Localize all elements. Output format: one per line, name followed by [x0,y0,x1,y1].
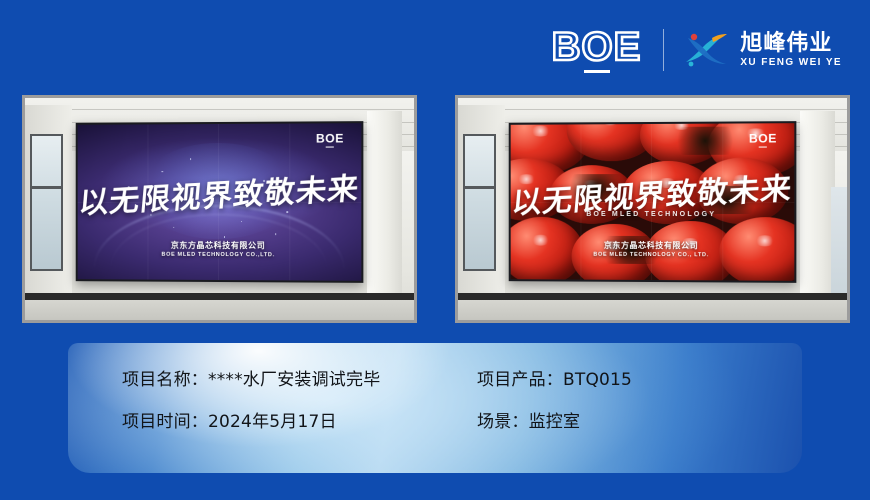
baseboard [25,293,414,300]
floor [458,300,847,320]
partner-logo: 旭峰伟业 XU FENG WEI YE [682,28,842,72]
led-screen-content: BOE 以无限视界致敬未来 京东方晶芯科技有限公司 BOE MLED TECHN… [78,124,362,281]
screen-boe-logo: BOE [749,133,777,148]
partner-name-cn: 旭峰伟业 [740,32,842,56]
boe-logo-underline [584,70,610,73]
info-panel: 项目名称：****水厂安装调试完毕 项目产品：BTQ015 项目时间：2024年… [68,343,802,473]
screen-footer: 京东方晶芯科技有限公司 BOE MLED TECHNOLOGY CO.,LTD. [78,240,362,259]
window [30,134,63,272]
photo-led-display-purple[interactable]: BOE 以无限视界致敬未来 京东方晶芯科技有限公司 BOE MLED TECHN… [22,95,417,323]
screen-boe-text: BOE [749,133,777,145]
info-label-scene: 场景： [477,412,529,432]
screen-footer-cn: 京东方晶芯科技有限公司 [511,240,795,252]
baseboard [458,293,847,300]
led-screen: BOE 以无限视界致敬未来 BOE MLED TECHNOLOGY 京东方晶芯科… [509,122,796,284]
boe-logo-text: BOE [552,27,642,67]
floor [25,300,414,320]
info-value-project-product: BTQ015 [563,370,632,390]
info-row-project-product: 项目产品：BTQ015 [477,365,632,390]
header-logo-bar: BOE 旭峰伟业 XU FENG WEI YE [552,22,842,78]
info-label-project-name: 项目名称： [122,370,208,390]
room-scene: BOE 以无限视界致敬未来 BOE MLED TECHNOLOGY 京东方晶芯科… [458,98,847,320]
right-pillar [800,111,835,311]
info-row-project-name: 项目名称：****水厂安装调试完毕 [122,365,477,390]
info-value-project-date: 2024年5月17日 [208,412,337,432]
partner-logo-text: 旭峰伟业 XU FENG WEI YE [740,32,842,69]
led-screen-content: BOE 以无限视界致敬未来 BOE MLED TECHNOLOGY 京东方晶芯科… [511,124,795,281]
screen-footer: 京东方晶芯科技有限公司 BOE MLED TECHNOLOGY CO., LTD… [511,240,795,259]
screen-boe-text: BOE [316,133,344,145]
xufeng-bird-icon [682,28,730,72]
info-grid: 项目名称：****水厂安装调试完毕 项目产品：BTQ015 项目时间：2024年… [122,365,632,432]
logo-divider [663,29,664,71]
slide-root: BOE 旭峰伟业 XU FENG WEI YE [0,0,870,500]
partner-name-en: XU FENG WEI YE [740,57,842,68]
info-label-project-date: 项目时间： [122,412,208,432]
right-pillar [367,111,402,311]
screen-subtitle: BOE MLED TECHNOLOGY [511,212,795,219]
screen-footer-cn: 京东方晶芯科技有限公司 [78,240,362,252]
photo-led-display-tomato[interactable]: BOE 以无限视界致敬未来 BOE MLED TECHNOLOGY 京东方晶芯科… [455,95,850,323]
info-value-project-name: ****水厂安装调试完毕 [208,370,380,390]
screen-boe-logo: BOE [316,133,344,148]
info-label-project-product: 项目产品： [477,370,563,390]
info-row-scene: 场景：监控室 [477,407,632,432]
doorway [831,187,847,302]
window [463,134,496,272]
info-row-project-date: 项目时间：2024年5月17日 [122,407,477,432]
led-screen: BOE 以无限视界致敬未来 京东方晶芯科技有限公司 BOE MLED TECHN… [76,122,363,284]
room-scene: BOE 以无限视界致敬未来 京东方晶芯科技有限公司 BOE MLED TECHN… [25,98,414,320]
boe-logo: BOE [552,27,664,73]
info-value-scene: 监控室 [529,412,581,432]
